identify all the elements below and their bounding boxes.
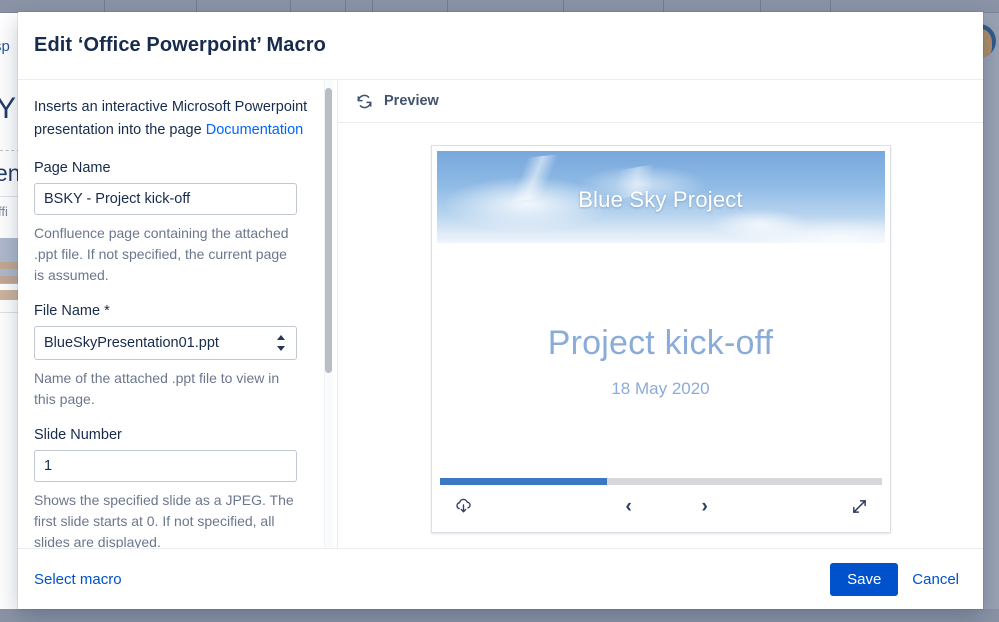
cloud-download-icon[interactable]: [454, 497, 473, 516]
slide-toolbar-buttons: ‹ ›: [437, 485, 885, 527]
background-text-fragment-1: sp: [0, 38, 16, 55]
macro-parameters-panel: Inserts an interactive Microsoft Powerpo…: [18, 80, 338, 548]
field-file-name: File Name * BlueSkyPresentation01.ppt Na…: [34, 302, 319, 410]
field-label-page-name: Page Name: [34, 159, 319, 177]
chevron-left-icon[interactable]: ‹: [626, 497, 632, 516]
preview-stage: Blue Sky Project Project kick-off 18 May…: [338, 123, 983, 548]
slide-heading: Project kick-off: [548, 325, 774, 362]
slide-banner-image: Blue Sky Project: [437, 151, 885, 243]
file-name-select-wrap: BlueSkyPresentation01.ppt: [34, 326, 297, 360]
dialog-body: Inserts an interactive Microsoft Powerpo…: [18, 80, 983, 549]
dialog-header: Edit ‘Office Powerpoint’ Macro: [18, 12, 983, 80]
slide-text-block: Project kick-off 18 May 2020: [437, 243, 885, 478]
macro-edit-dialog: Edit ‘Office Powerpoint’ Macro Inserts a…: [18, 12, 983, 609]
slide-toolbar: ‹ ›: [437, 478, 885, 527]
field-label-file-name: File Name *: [34, 302, 319, 320]
preview-header: Preview: [338, 80, 983, 123]
slide-progress-bar[interactable]: [440, 478, 882, 485]
cancel-button[interactable]: Cancel: [898, 563, 965, 596]
slide-progress-fill: [440, 478, 608, 485]
form-scrollbar-thumb[interactable]: [325, 88, 332, 373]
slide-viewer[interactable]: Blue Sky Project Project kick-off 18 May…: [431, 145, 891, 533]
preview-panel: Preview Blue Sky Project Project kick-of…: [338, 80, 983, 548]
background-right-gutter: [983, 13, 999, 609]
background-text-fragment-4: ffi: [0, 204, 20, 219]
background-text-fragment-3: en: [0, 160, 19, 187]
slide-number-input[interactable]: [34, 450, 297, 482]
background-thumbnail-3: [0, 276, 18, 283]
field-help-page-name: Confluence page containing the attached …: [34, 223, 300, 286]
macro-description: Inserts an interactive Microsoft Powerpo…: [34, 96, 319, 142]
background-thumbnail-4: [0, 290, 18, 300]
save-button[interactable]: Save: [830, 563, 898, 596]
prev-slide-glyph: ‹: [626, 497, 632, 516]
background-thumbnail-2: [0, 262, 18, 269]
macro-parameters-scroll: Inserts an interactive Microsoft Powerpo…: [18, 80, 337, 548]
chevron-right-icon[interactable]: ›: [702, 497, 708, 516]
fullscreen-expand-icon[interactable]: [851, 498, 868, 515]
dialog-footer: Select macro Save Cancel: [18, 549, 983, 609]
background-status-bar: [0, 609, 999, 622]
slide-content: Blue Sky Project Project kick-off 18 May…: [437, 151, 885, 527]
slide-banner-title: Blue Sky Project: [437, 187, 885, 213]
field-slide-number: Slide Number Shows the specified slide a…: [34, 426, 319, 548]
field-label-slide-number: Slide Number: [34, 426, 319, 444]
background-divider-2: [0, 196, 20, 197]
refresh-icon[interactable]: [356, 93, 373, 110]
background-divider-3: [0, 312, 20, 313]
slide-date: 18 May 2020: [611, 379, 709, 399]
documentation-link[interactable]: Documentation: [206, 122, 304, 138]
field-help-slide-number: Shows the specified slide as a JPEG. The…: [34, 490, 300, 548]
select-macro-link[interactable]: Select macro: [26, 567, 130, 592]
field-page-name: Page Name Confluence page containing the…: [34, 159, 319, 286]
preview-label: Preview: [384, 93, 439, 109]
page-name-input[interactable]: [34, 183, 297, 215]
next-slide-glyph: ›: [702, 497, 708, 516]
field-help-file-name: Name of the attached .ppt file to view i…: [34, 368, 300, 410]
background-divider-1: [0, 150, 20, 151]
file-name-select[interactable]: BlueSkyPresentation01.ppt: [34, 326, 297, 360]
page-title: Edit ‘Office Powerpoint’ Macro: [34, 34, 326, 57]
